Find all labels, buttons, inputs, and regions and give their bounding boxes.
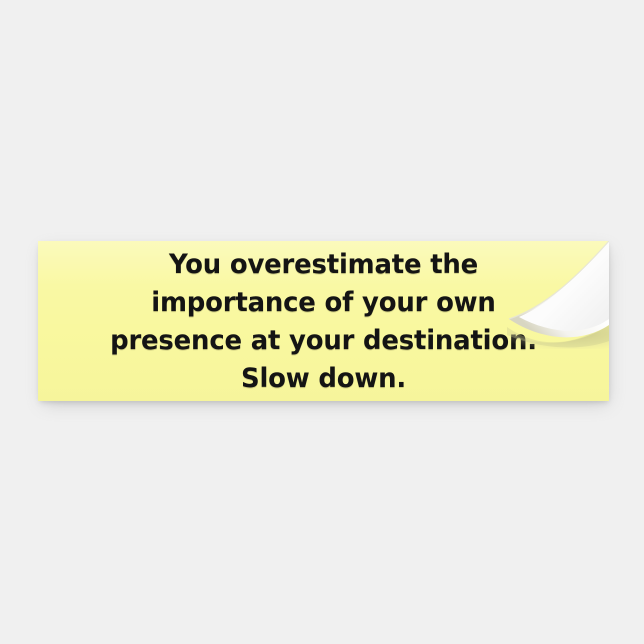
sticker-text-line-2: importance of your own: [49, 284, 597, 322]
sticker-text-line-3: presence at your destination.: [49, 322, 597, 360]
sticker-text-line-4: Slow down.: [49, 360, 597, 398]
bumper-sticker: You overestimate the importance of your …: [38, 241, 609, 401]
sticker-text-block: You overestimate the importance of your …: [38, 246, 609, 398]
product-image-canvas: You overestimate the importance of your …: [0, 0, 644, 644]
sticker-face: You overestimate the importance of your …: [38, 241, 609, 401]
sticker-accessible-text: You overestimate the importance of your …: [0, 0, 1, 1]
sticker-text-line-1: You overestimate the: [49, 246, 597, 284]
